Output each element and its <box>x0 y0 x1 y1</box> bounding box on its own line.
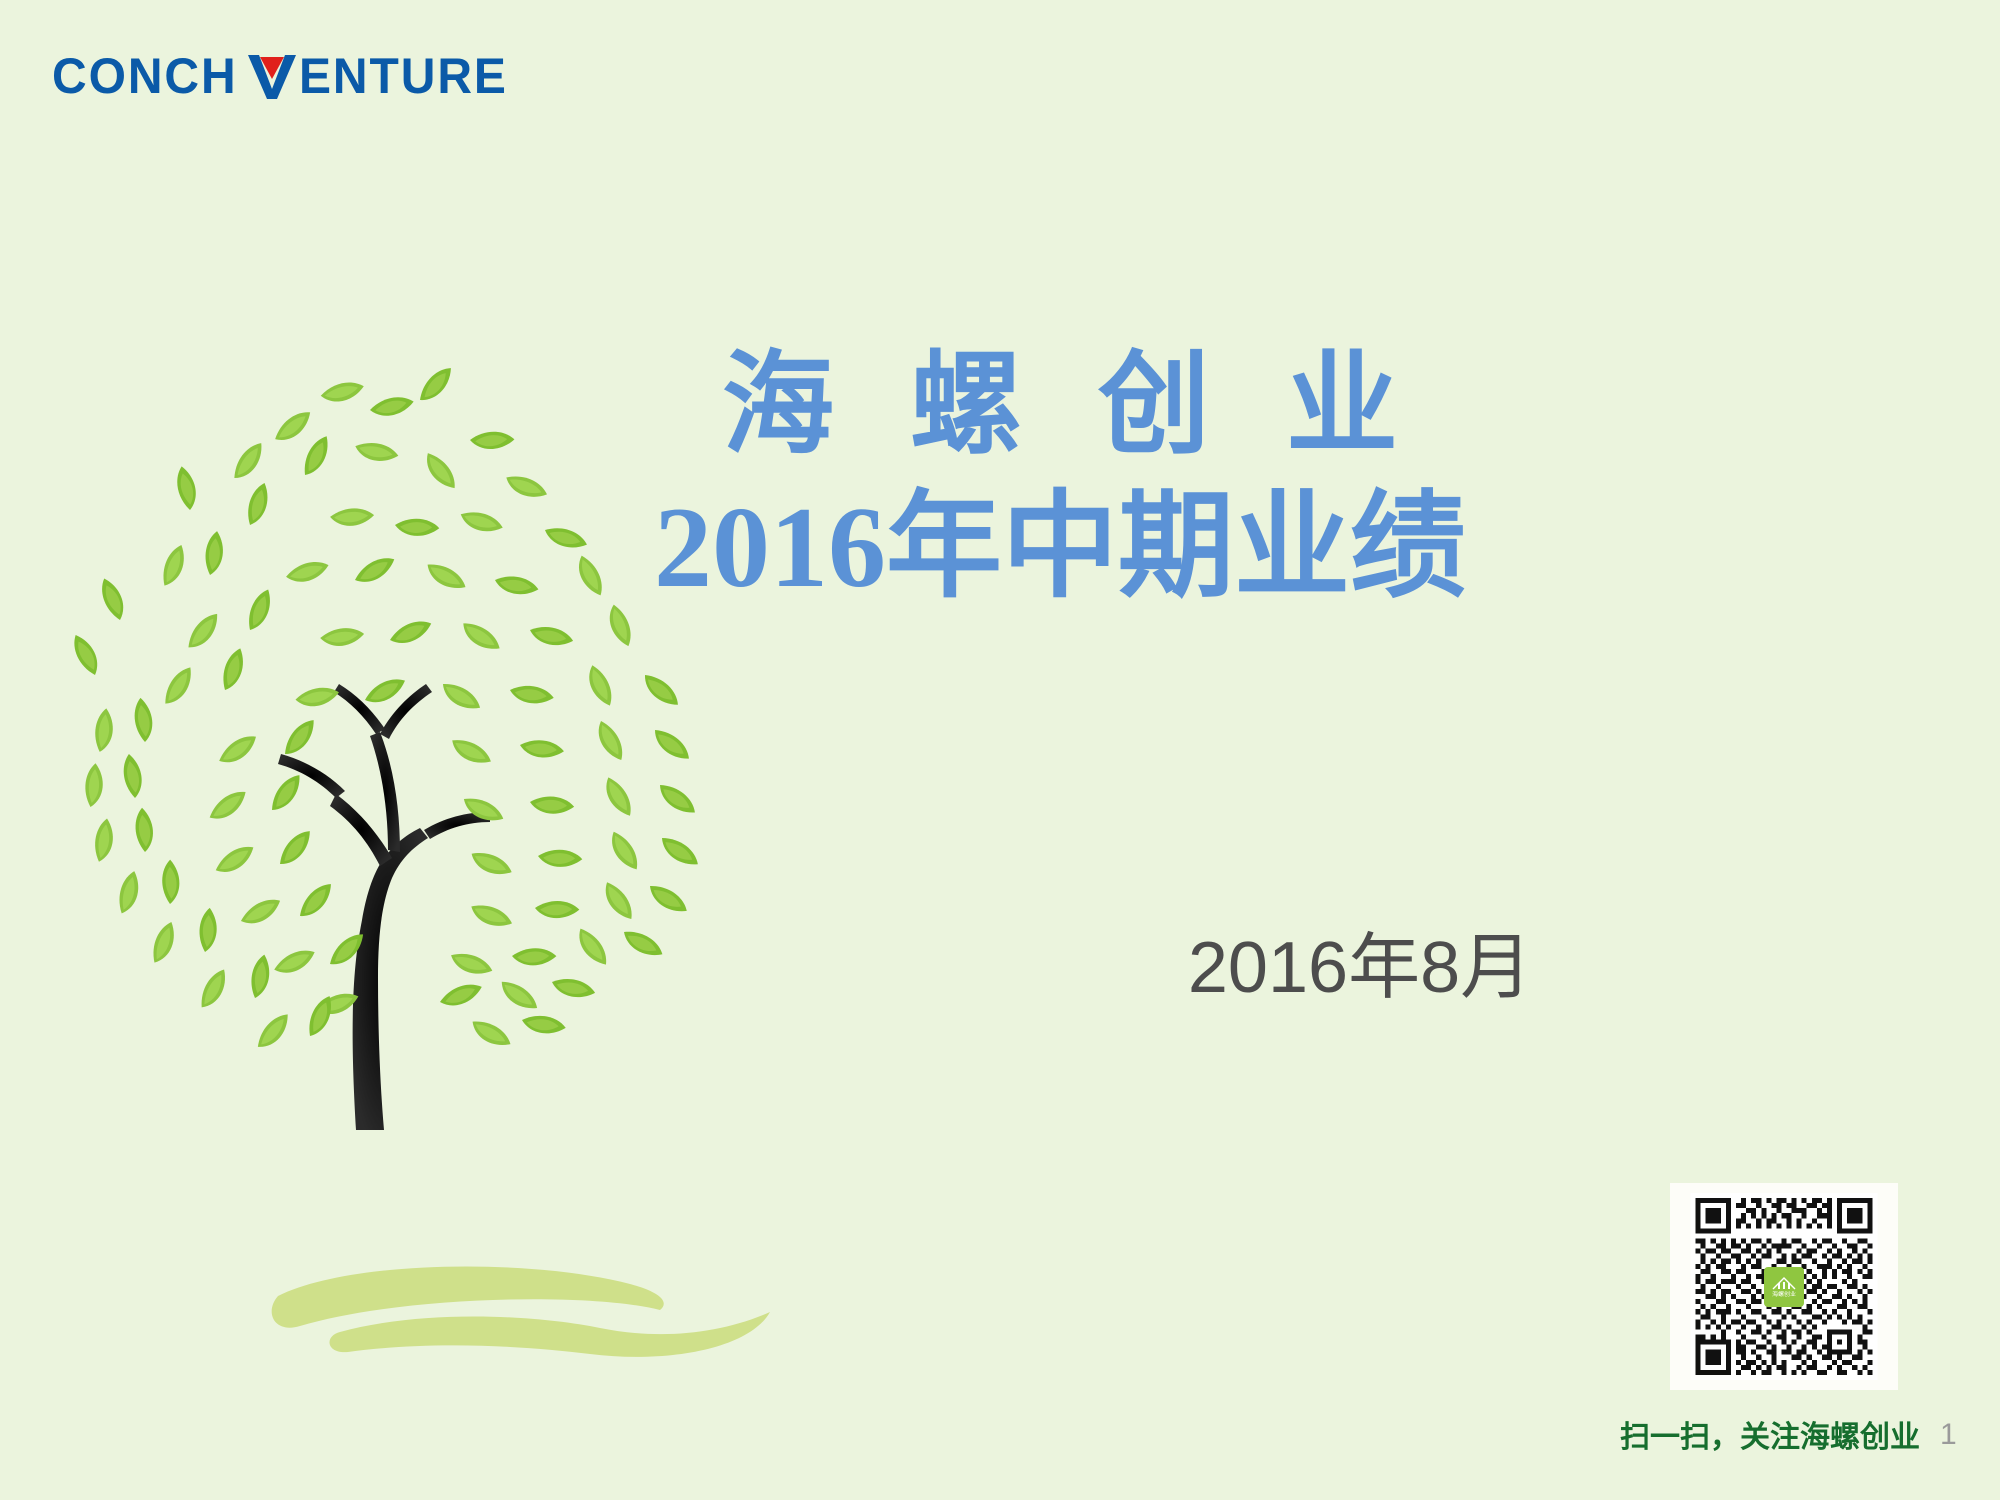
logo-text-venture: ENTURE <box>299 51 508 101</box>
wechat-qr-code[interactable]: 海螺创业 <box>1670 1183 1898 1390</box>
title-block: 海 螺 创 业 2016年中期业绩 <box>620 340 1500 617</box>
page-title-line2: 2016年中期业绩 <box>620 480 1500 617</box>
page-title-line1: 海 螺 创 业 <box>620 340 1500 472</box>
ground-swoosh <box>230 1240 790 1380</box>
v-triangle-mark-icon <box>245 51 299 101</box>
qr-center-brand-logo: 海螺创业 <box>1764 1267 1804 1307</box>
title-slide: CONCH ENTURE <box>0 0 2000 1500</box>
qr-center-brand-text: 海螺创业 <box>1772 1291 1796 1297</box>
qr-caption: 扫一扫，关注海螺创业 <box>1560 1412 1920 1456</box>
logo-text-conch: CONCH <box>52 51 238 101</box>
page-number: 1 <box>1940 1418 1957 1452</box>
conch-venture-logo: CONCH ENTURE <box>52 48 517 104</box>
presentation-date: 2016年8月 <box>1130 908 1590 1013</box>
